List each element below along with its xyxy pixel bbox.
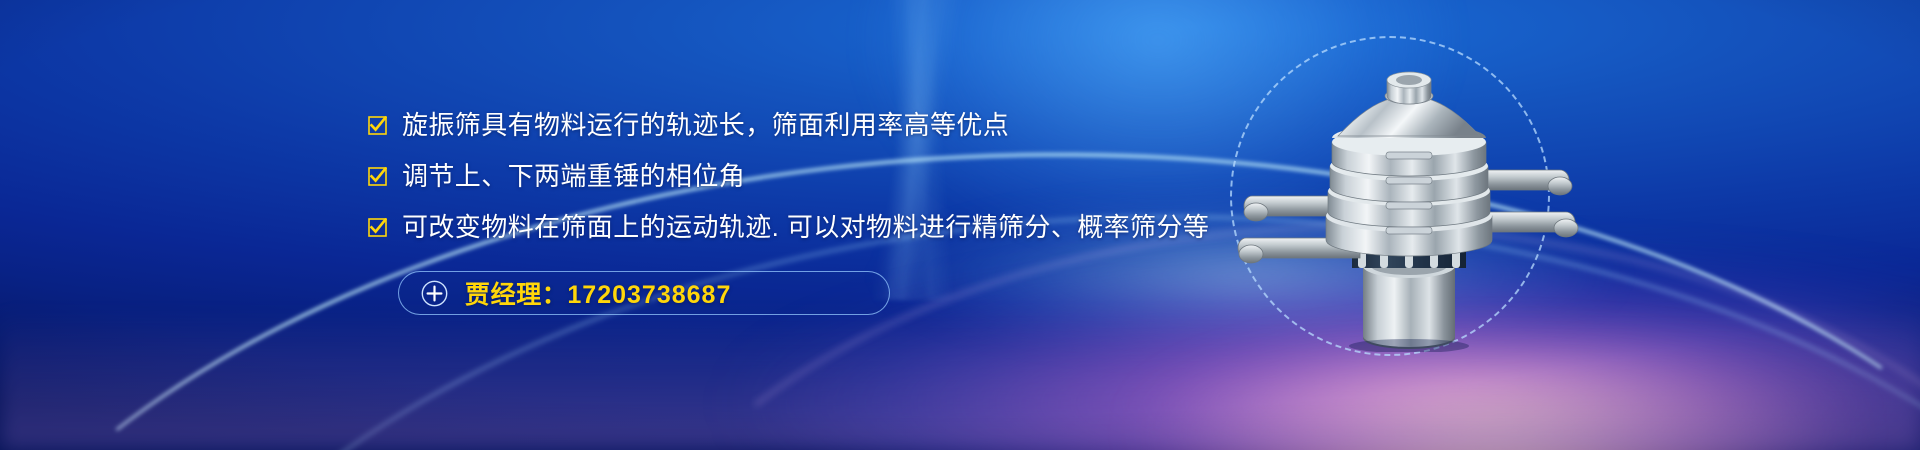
check-icon [368,167,387,186]
feature-item-label: 可改变物料在筛面上的运动轨迹. 可以对物料进行精筛分、概率筛分等 [402,212,1209,242]
rotary-vibrating-screen-image [1234,52,1584,352]
contact-text: 贾经理：17203738687 [465,275,731,311]
banner-content: 旋振筛具有物料运行的轨迹长，筛面利用率高等优点 调节上、下两端重锤的相位角 [0,0,1920,450]
check-icon [368,218,387,237]
contact-label: 贾经理： [465,281,567,309]
feature-item-label: 调节上、下两端重锤的相位角 [402,161,745,191]
feature-item: 旋振筛具有物料运行的轨迹长，筛面利用率高等优点 [368,110,1268,140]
feature-item: 可改变物料在筛面上的运动轨迹. 可以对物料进行精筛分、概率筛分等 [368,212,1268,242]
feature-item-label: 旋振筛具有物料运行的轨迹长，筛面利用率高等优点 [402,110,1009,140]
feature-item: 调节上、下两端重锤的相位角 [368,161,1268,191]
check-icon [368,116,387,135]
contact-pill[interactable]: 贾经理：17203738687 [398,271,890,315]
promo-banner: 旋振筛具有物料运行的轨迹长，筛面利用率高等优点 调节上、下两端重锤的相位角 [0,0,1920,450]
plus-circle-icon [421,280,448,307]
feature-list: 旋振筛具有物料运行的轨迹长，筛面利用率高等优点 调节上、下两端重锤的相位角 [368,110,1268,263]
product-image-container [1228,30,1598,360]
contact-phone-number: 17203738687 [567,281,731,309]
